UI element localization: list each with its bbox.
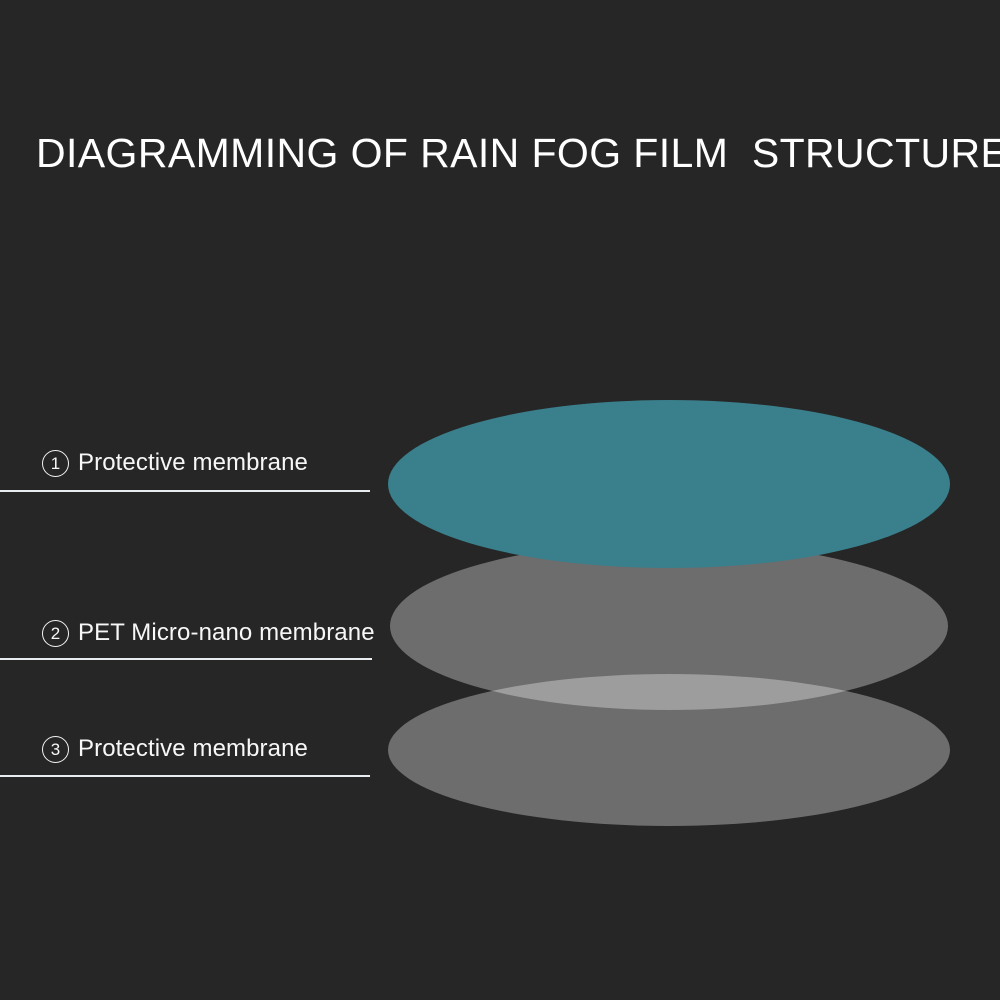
- layer-ellipse-protective-membrane-top: [388, 400, 950, 568]
- legend-number-3: 3: [42, 736, 69, 763]
- diagram-canvas: DIAGRAMMING OF RAIN FOG FILM STRUCTURE 1…: [0, 0, 1000, 1000]
- legend-item-2[interactable]: 2 PET Micro-nano membrane: [28, 617, 375, 649]
- leader-line-3: [0, 775, 370, 777]
- legend-item-3[interactable]: 3 Protective membrane: [28, 733, 308, 765]
- legend-number-1: 1: [42, 450, 69, 477]
- layer-stack-illustration: [0, 0, 1000, 1000]
- legend-label-3: Protective membrane: [78, 735, 308, 763]
- legend-label-2: PET Micro-nano membrane: [78, 619, 375, 647]
- leader-line-1: [0, 490, 370, 492]
- legend-label-1: Protective membrane: [78, 449, 308, 477]
- leader-line-2: [0, 658, 372, 660]
- legend-item-1[interactable]: 1 Protective membrane: [28, 447, 308, 479]
- legend-number-2: 2: [42, 620, 69, 647]
